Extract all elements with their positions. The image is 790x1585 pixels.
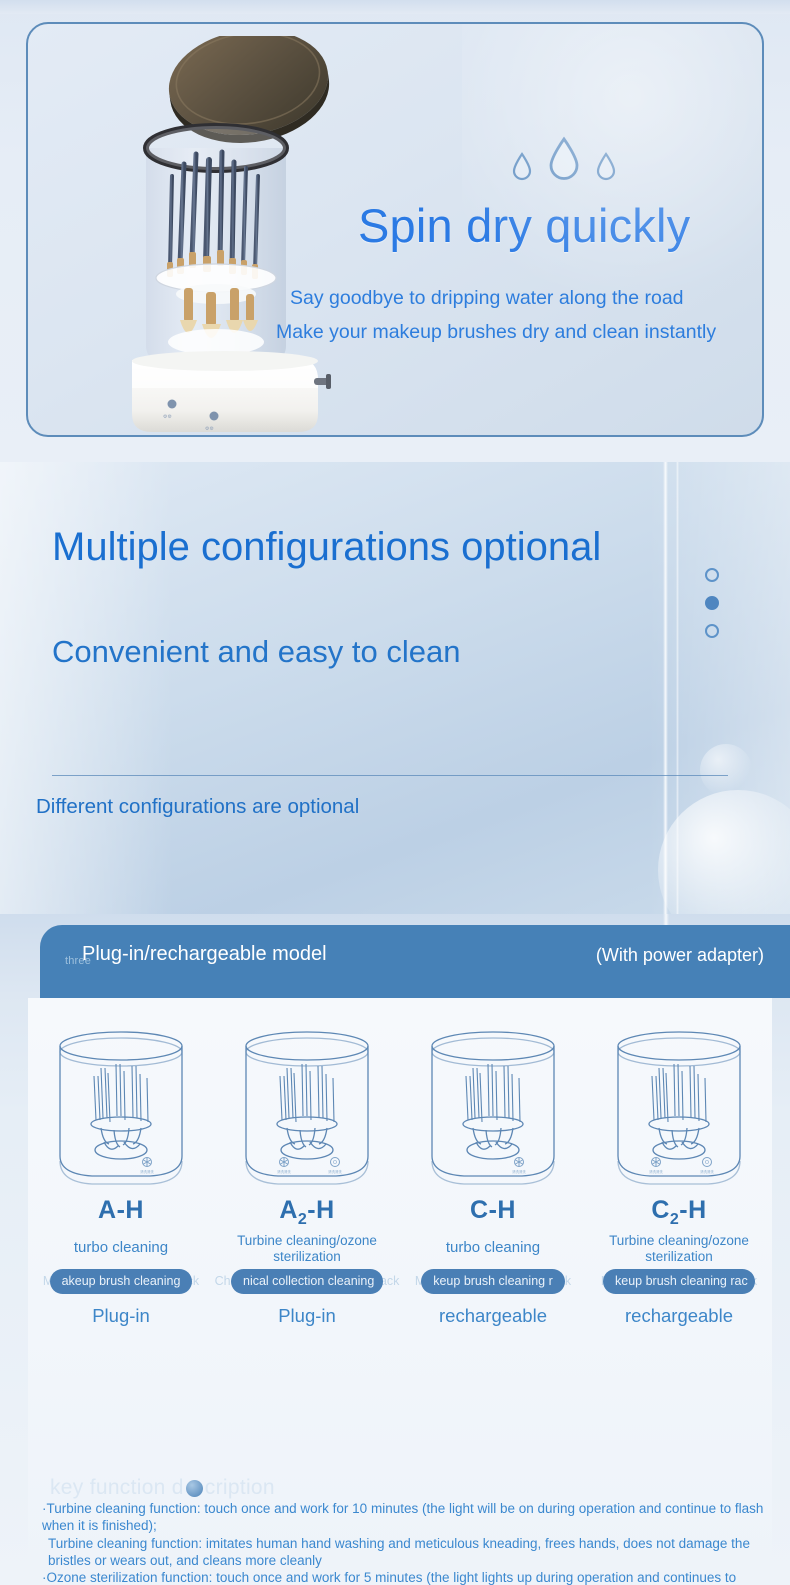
product-code: C-H xyxy=(470,1196,516,1229)
models-white-card: 清洗清洗 A-H turbo cleaning Makeup brush cle… xyxy=(28,998,772,1573)
product-code: A2-H xyxy=(279,1196,334,1229)
product-badge: keup brush cleaning rac xyxy=(603,1269,755,1294)
hero-subtitle-1: Say goodbye to dripping water along the … xyxy=(290,287,684,310)
configurations-note: Different configurations are optional xyxy=(36,795,359,819)
product-badge-slot: Makeup brush cleaning rack keup brush cl… xyxy=(400,1269,586,1299)
product-feature: Turbine cleaning/ozone sterilization xyxy=(223,1233,391,1265)
configurations-section: Multiple configurations optional Conveni… xyxy=(0,462,790,914)
hero-section: ⚙⚙ ⚙⚙ Spin dry quickly Say goodbye to d xyxy=(0,0,790,462)
product-card[interactable]: O 清洗清洗 清洗清洗 A2-H Turbine cleaning/ozone … xyxy=(214,1016,400,1327)
hero-card: ⚙⚙ ⚙⚙ Spin dry quickly Say goodbye to d xyxy=(26,22,764,437)
product-badge: nical collection cleaning xyxy=(231,1269,383,1294)
product-power-type: rechargeable xyxy=(625,1305,733,1327)
product-code: A-H xyxy=(98,1196,144,1229)
product-badge: akeup brush cleaning xyxy=(50,1269,193,1294)
decorative-bubble-small xyxy=(700,744,752,796)
product-illustration-icon: O 清洗清洗 清洗清洗 xyxy=(604,1016,754,1194)
product-feature: Turbine cleaning/ozone sterilization xyxy=(595,1233,763,1265)
description-body: ·Turbine cleaning function: touch once a… xyxy=(42,1500,768,1585)
water-drop-icon-large xyxy=(546,136,582,182)
product-illustration-icon: 清洗清洗 xyxy=(46,1016,196,1194)
product-badge: keup brush cleaning r xyxy=(421,1269,565,1294)
product-illustration-icon: O 清洗清洗 清洗清洗 xyxy=(232,1016,382,1194)
hero-subtitle-2: Make your makeup brushes dry and clean i… xyxy=(276,321,716,344)
carousel-dot-3[interactable] xyxy=(705,624,719,638)
product-power-type: Plug-in xyxy=(278,1305,336,1327)
svg-text:⚙⚙: ⚙⚙ xyxy=(163,414,172,420)
model-banner: three Plug-in/rechargeable model (With p… xyxy=(40,925,790,998)
product-power-type: rechargeable xyxy=(439,1305,547,1327)
product-badge-slot: Chemical collection cleaning rack nical … xyxy=(214,1269,400,1299)
horizontal-divider xyxy=(52,775,728,776)
water-drop-icon-small-right xyxy=(595,152,617,182)
section-subheading: Convenient and easy to clean xyxy=(52,634,482,671)
water-drops-group xyxy=(511,136,617,182)
product-badge-slot: Makeup brush cleaning rack akeup brush c… xyxy=(28,1269,214,1299)
svg-text:清洗清洗: 清洗清洗 xyxy=(328,1169,342,1174)
svg-text:清洗清洗: 清洗清洗 xyxy=(512,1169,526,1174)
product-feature: turbo cleaning xyxy=(409,1233,577,1265)
svg-text:清洗清洗: 清洗清洗 xyxy=(140,1169,154,1174)
product-badge-slot: Makeup brush cleaning rack keup brush cl… xyxy=(586,1269,772,1299)
description-line-1: ·Turbine cleaning function: touch once a… xyxy=(42,1500,768,1535)
svg-text:⚙⚙: ⚙⚙ xyxy=(205,426,214,432)
description-heading: key function dcription xyxy=(50,1476,275,1500)
bubble-icon xyxy=(186,1480,203,1497)
svg-text:清洗清洗: 清洗清洗 xyxy=(649,1169,663,1174)
product-feature: turbo cleaning xyxy=(37,1233,205,1265)
models-section: three Plug-in/rechargeable model (With p… xyxy=(0,914,790,1585)
svg-text:清洗清洗: 清洗清洗 xyxy=(700,1169,714,1174)
description-line-3: ·Ozone sterilization function: touch onc… xyxy=(42,1569,768,1585)
banner-title: Plug-in/rechargeable model xyxy=(82,943,327,966)
product-card[interactable]: 清洗清洗 C-H turbo cleaning Makeup brush cle… xyxy=(400,1016,586,1327)
banner-right-note: (With power adapter) xyxy=(596,945,764,966)
carousel-dot-2-active[interactable] xyxy=(705,596,719,610)
product-cards-row: 清洗清洗 A-H turbo cleaning Makeup brush cle… xyxy=(28,1016,772,1327)
section-heading: Multiple configurations optional xyxy=(52,524,612,571)
description-line-2: Turbine cleaning function: imitates huma… xyxy=(42,1535,768,1570)
product-detail-page: ⚙⚙ ⚙⚙ Spin dry quickly Say goodbye to d xyxy=(0,0,790,1585)
svg-text:清洗清洗: 清洗清洗 xyxy=(277,1169,291,1174)
makeup-brush-cleaner-device-icon: ⚙⚙ ⚙⚙ xyxy=(110,36,390,436)
svg-text:O: O xyxy=(705,1160,709,1166)
water-drop-icon-small-left xyxy=(511,152,533,182)
carousel-dots[interactable] xyxy=(705,568,719,652)
product-code: C2-H xyxy=(651,1196,706,1229)
carousel-dot-1[interactable] xyxy=(705,568,719,582)
product-illustration-icon: 清洗清洗 xyxy=(418,1016,568,1194)
hero-title: Spin dry quickly xyxy=(358,202,690,249)
svg-text:O: O xyxy=(333,1160,337,1166)
product-card[interactable]: O 清洗清洗 清洗清洗 C2-H Turbine cleaning/ozone … xyxy=(586,1016,772,1327)
product-power-type: Plug-in xyxy=(92,1305,150,1327)
product-card[interactable]: 清洗清洗 A-H turbo cleaning Makeup brush cle… xyxy=(28,1016,214,1327)
